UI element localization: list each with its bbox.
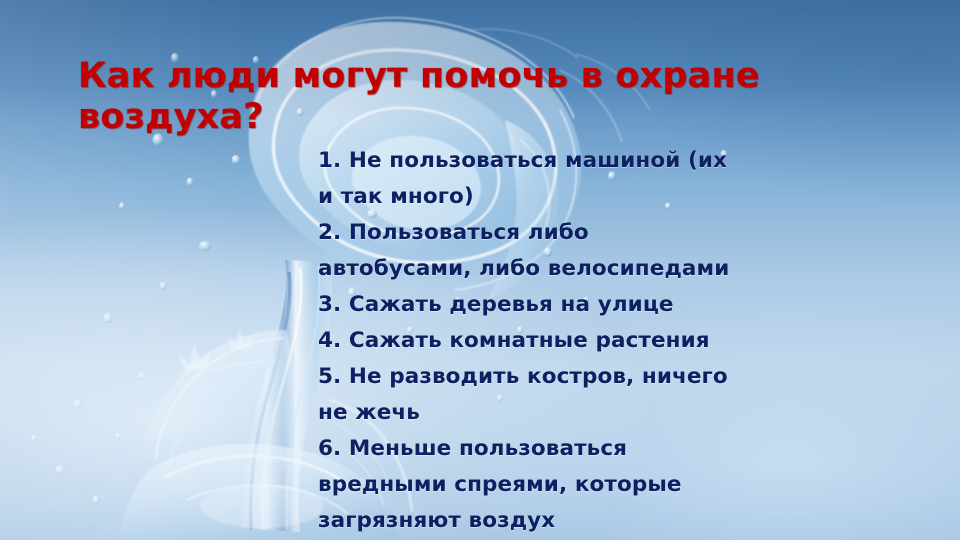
body-line: не жечь <box>318 395 888 431</box>
body-line: 3. Сажать деревья на улице <box>318 287 888 323</box>
slide-title: Как люди могут помочь в охране воздуха? <box>78 56 878 138</box>
body-line: 2. Пользоваться либо <box>318 215 888 251</box>
body-line: загрязняют воздух <box>318 503 888 539</box>
body-line: 1. Не пользоваться машиной (их <box>318 143 888 179</box>
slide-body-list: 1. Не пользоваться машиной (их и так мно… <box>318 143 888 539</box>
body-line: 4. Сажать комнатные растения <box>318 323 888 359</box>
body-line: автобусами, либо велосипедами <box>318 251 888 287</box>
body-line: 6. Меньше пользоваться <box>318 431 888 467</box>
body-line: вредными спреями, которые <box>318 467 888 503</box>
body-line: 5. Не разводить костров, ничего <box>318 359 888 395</box>
body-line: и так много) <box>318 179 888 215</box>
presentation-slide: Как люди могут помочь в охране воздуха? … <box>0 0 960 540</box>
